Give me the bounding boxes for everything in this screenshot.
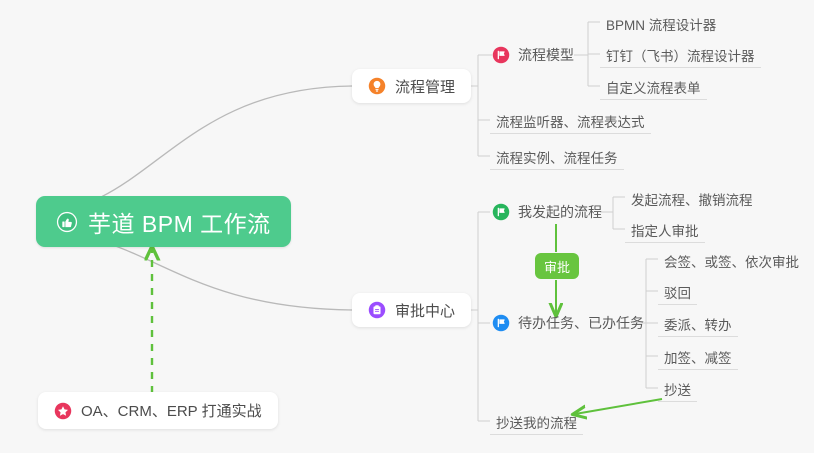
leaf-delegate-transfer[interactable]: 委派、转办 (658, 309, 738, 337)
leaf-dingtalk-feishu-designer-label: 钉钉（飞书）流程设计器 (606, 50, 755, 64)
leaf-assignee-approval-label: 指定人审批 (631, 225, 699, 239)
leaf-delegate-transfer-label: 委派、转办 (664, 319, 732, 333)
wire-root-to-process-management (36, 86, 352, 213)
node-my-initiated[interactable]: 我发起的流程 (492, 199, 602, 225)
leaf-cc[interactable]: 抄送 (658, 374, 697, 402)
mindmap-canvas: 芋道 BPM 工作流 流程管理 流程模型 BPMN 流程设计器 钉钉（飞书）流程 (0, 0, 814, 453)
clipboard-purple-icon (368, 301, 386, 319)
thumbs-up-icon (56, 211, 78, 233)
branch-process-management-label: 流程管理 (395, 76, 455, 97)
leaf-assignee-approval[interactable]: 指定人审批 (625, 215, 705, 243)
leaf-start-cancel-label: 发起流程、撤销流程 (631, 194, 753, 208)
star-red-icon (54, 402, 72, 420)
approval-tag[interactable]: 审批 (535, 253, 579, 279)
leaf-cc-label: 抄送 (664, 384, 691, 398)
arrow-cc-to-ccmine (575, 399, 662, 414)
leaf-listener-expression[interactable]: 流程监听器、流程表达式 (490, 106, 651, 134)
leaf-cc-to-me-label: 抄送我的流程 (496, 417, 577, 431)
leaf-add-remove-sign-label: 加签、减签 (664, 352, 732, 366)
leaf-bpmn-designer-label: BPMN 流程设计器 (606, 19, 716, 33)
flag-blue-icon (492, 314, 510, 332)
branch-approval-center-label: 审批中心 (395, 300, 455, 321)
root-label: 芋道 BPM 工作流 (88, 205, 271, 239)
lightbulb-icon (368, 77, 386, 95)
node-my-initiated-label: 我发起的流程 (518, 202, 602, 222)
leaf-countersign[interactable]: 会签、或签、依次审批 (658, 245, 805, 273)
leaf-instance-task-label: 流程实例、流程任务 (496, 152, 618, 166)
flag-green-icon (492, 203, 510, 221)
leaf-countersign-label: 会签、或签、依次审批 (664, 256, 799, 270)
leaf-cc-to-me[interactable]: 抄送我的流程 (490, 407, 583, 435)
leaf-instance-task[interactable]: 流程实例、流程任务 (490, 142, 624, 170)
branch-approval-center[interactable]: 审批中心 (352, 293, 471, 327)
root-node[interactable]: 芋道 BPM 工作流 (36, 196, 291, 247)
leaf-reject[interactable]: 驳回 (658, 277, 697, 305)
leaf-custom-process-form-label: 自定义流程表单 (606, 82, 701, 96)
node-process-model-label: 流程模型 (518, 45, 574, 65)
integration-note-label: OA、CRM、ERP 打通实战 (81, 400, 262, 421)
leaf-custom-process-form[interactable]: 自定义流程表单 (600, 72, 707, 100)
leaf-start-cancel[interactable]: 发起流程、撤销流程 (625, 183, 759, 211)
leaf-add-remove-sign[interactable]: 加签、减签 (658, 342, 738, 370)
leaf-listener-expression-label: 流程监听器、流程表达式 (496, 116, 645, 130)
node-todo-done-tasks[interactable]: 待办任务、已办任务 (492, 310, 644, 336)
leaf-bpmn-designer[interactable]: BPMN 流程设计器 (600, 8, 722, 36)
leaf-reject-label: 驳回 (664, 287, 691, 301)
integration-note[interactable]: OA、CRM、ERP 打通实战 (38, 392, 278, 429)
branch-process-management[interactable]: 流程管理 (352, 69, 471, 103)
approval-tag-label: 审批 (544, 257, 570, 276)
node-todo-done-tasks-label: 待办任务、已办任务 (518, 313, 644, 333)
leaf-dingtalk-feishu-designer[interactable]: 钉钉（飞书）流程设计器 (600, 40, 761, 68)
flag-red-icon (492, 46, 510, 64)
node-process-model[interactable]: 流程模型 (492, 42, 574, 68)
